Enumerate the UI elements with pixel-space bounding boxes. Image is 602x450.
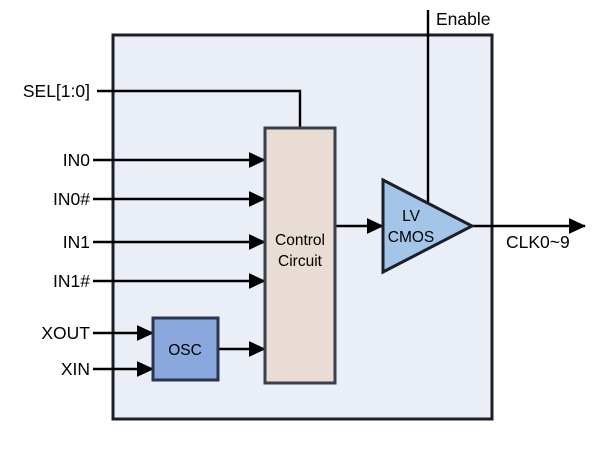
input-label-in0n: IN0# xyxy=(53,189,90,209)
input-label-in1: IN1 xyxy=(63,232,90,252)
block-diagram: SEL[1:0] IN0 IN0# IN1 IN1# XOUT XIN Enab… xyxy=(0,0,602,450)
control-circuit-label-line2: Circuit xyxy=(278,253,323,270)
osc-label: OSC xyxy=(168,342,202,359)
diagram-canvas: SEL[1:0] IN0 IN0# IN1 IN1# XOUT XIN Enab… xyxy=(0,0,602,450)
amplifier-label-line2: CMOS xyxy=(388,229,435,246)
control-circuit-label-line1: Control xyxy=(275,232,325,249)
input-label-in1n: IN1# xyxy=(53,271,90,291)
output-label-clk: CLK0~9 xyxy=(506,232,570,252)
input-label-xin: XIN xyxy=(61,359,90,379)
amplifier-label-line1: LV xyxy=(402,208,420,225)
enable-label: Enable xyxy=(436,9,491,29)
input-label-xout: XOUT xyxy=(41,323,90,343)
input-label-sel: SEL[1:0] xyxy=(23,81,90,101)
input-label-in0: IN0 xyxy=(63,150,91,170)
